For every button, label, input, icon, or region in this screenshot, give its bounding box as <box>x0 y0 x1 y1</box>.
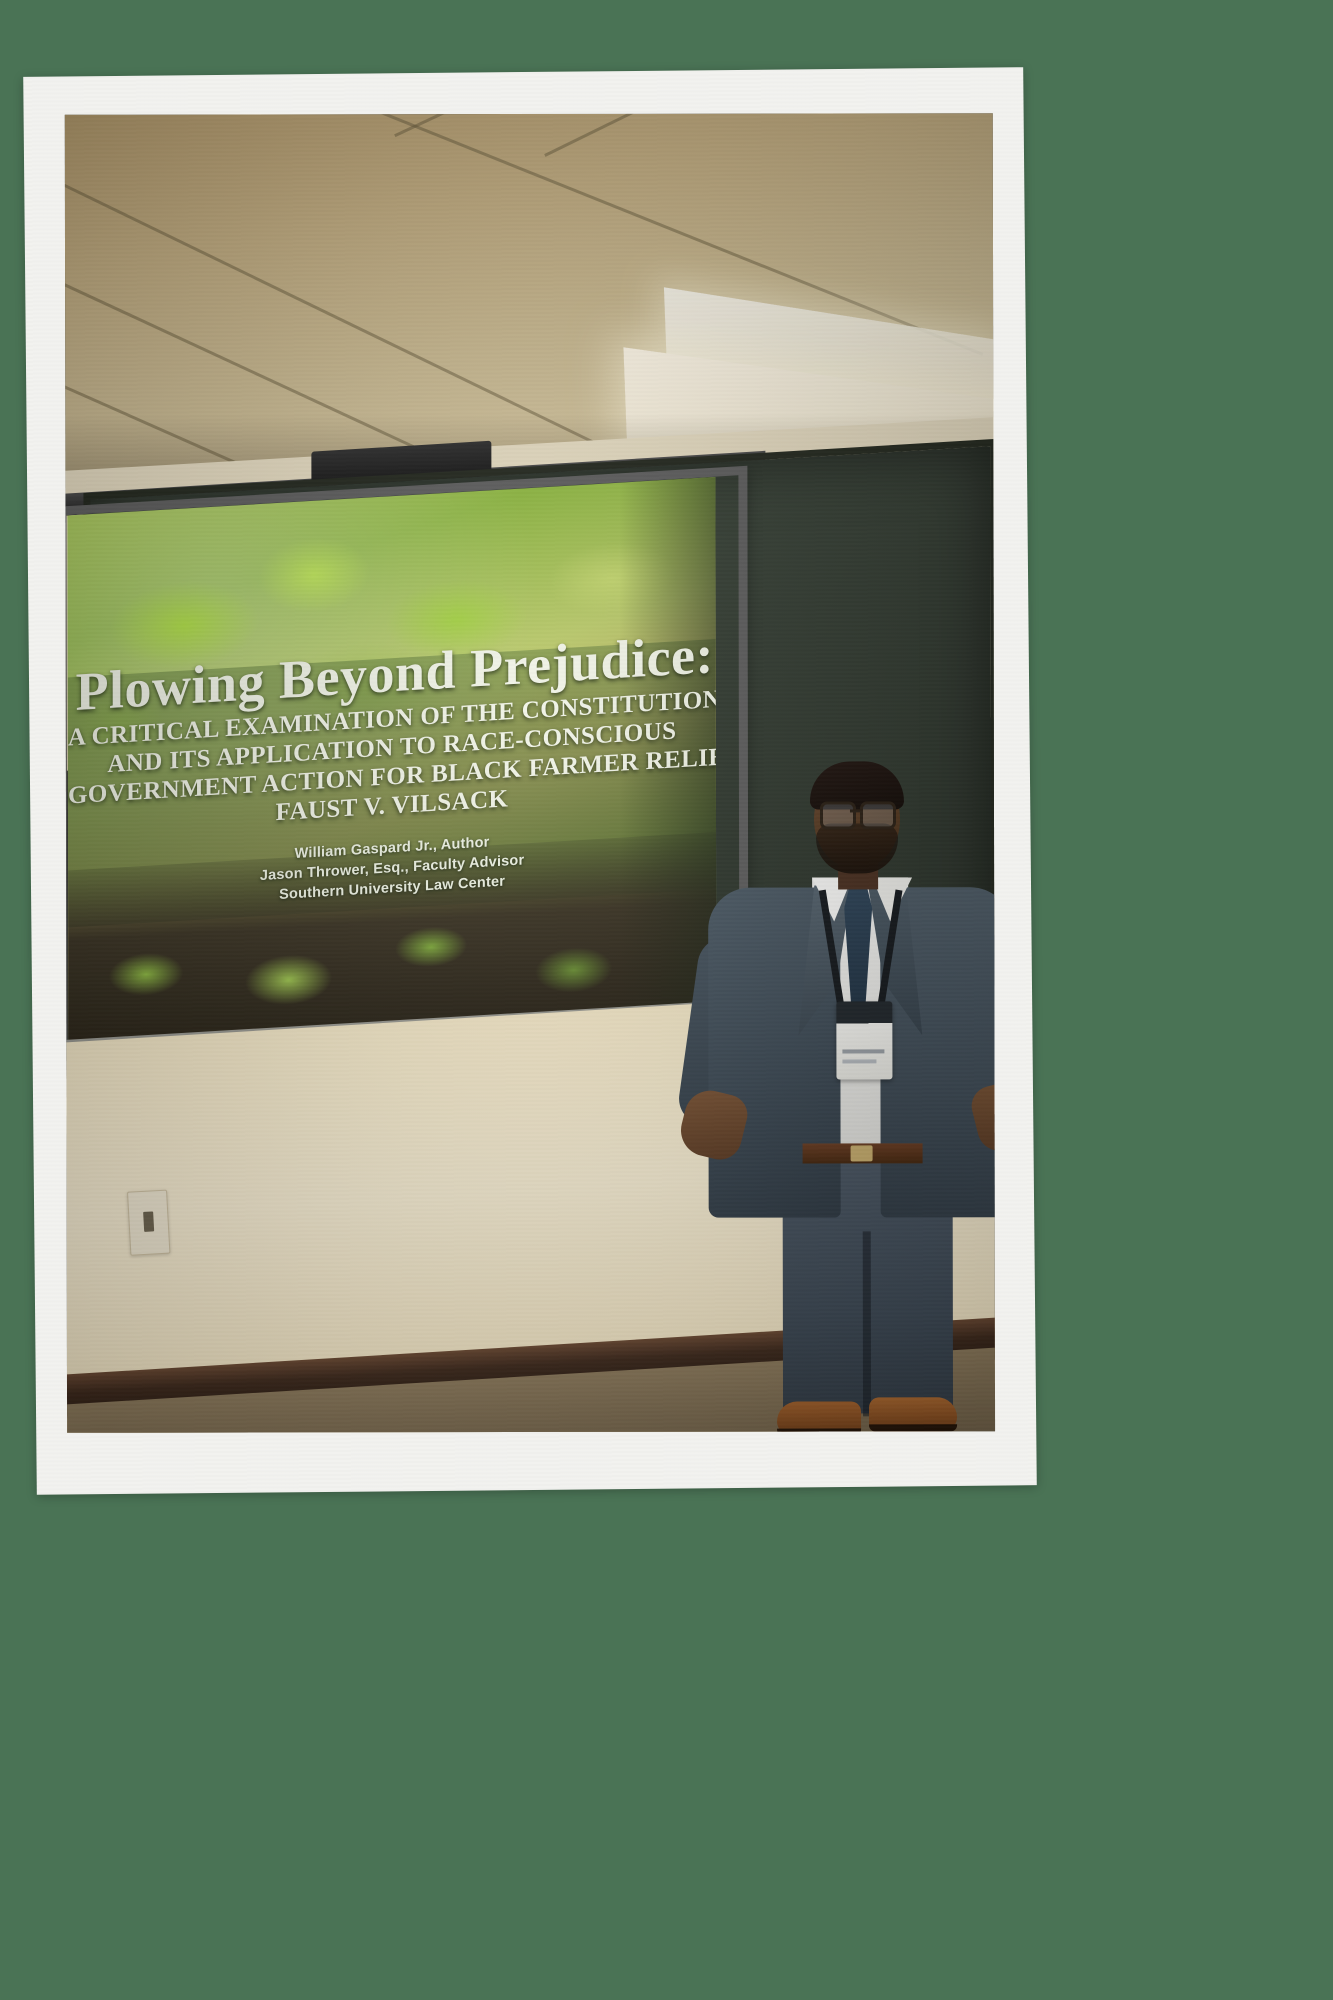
ceiling-grid-line <box>314 113 983 356</box>
shoe-sole <box>869 1424 957 1431</box>
badge-text-line <box>842 1049 884 1053</box>
presenter <box>686 761 995 1433</box>
ceiling-tiles <box>65 113 994 475</box>
conference-badge <box>836 1001 892 1079</box>
polaroid-frame: Plowing Beyond Prejudice: A CRITICAL EXA… <box>23 67 1037 1495</box>
slide-text-block: Plowing Beyond Prejudice: A CRITICAL EXA… <box>68 627 716 917</box>
belt-buckle <box>851 1145 873 1161</box>
wall-outlet-plate <box>127 1190 170 1256</box>
trouser-seam <box>863 1231 871 1416</box>
shoe-sole <box>777 1428 861 1432</box>
outlet-slot <box>143 1211 154 1232</box>
ceiling-grid-line <box>544 113 995 157</box>
right-shoe <box>869 1397 957 1431</box>
photograph: Plowing Beyond Prejudice: A CRITICAL EXA… <box>65 113 995 1433</box>
eyeglasses-bridge <box>850 809 862 812</box>
eyeglasses-right-lens <box>860 801 896 829</box>
projection-screen: Plowing Beyond Prejudice: A CRITICAL EXA… <box>67 477 716 1045</box>
eyeglasses-left-lens <box>820 801 856 829</box>
badge-text-line <box>842 1059 876 1063</box>
ceiling-grid-line <box>394 113 995 137</box>
left-shoe <box>777 1401 861 1432</box>
beard <box>816 823 898 873</box>
